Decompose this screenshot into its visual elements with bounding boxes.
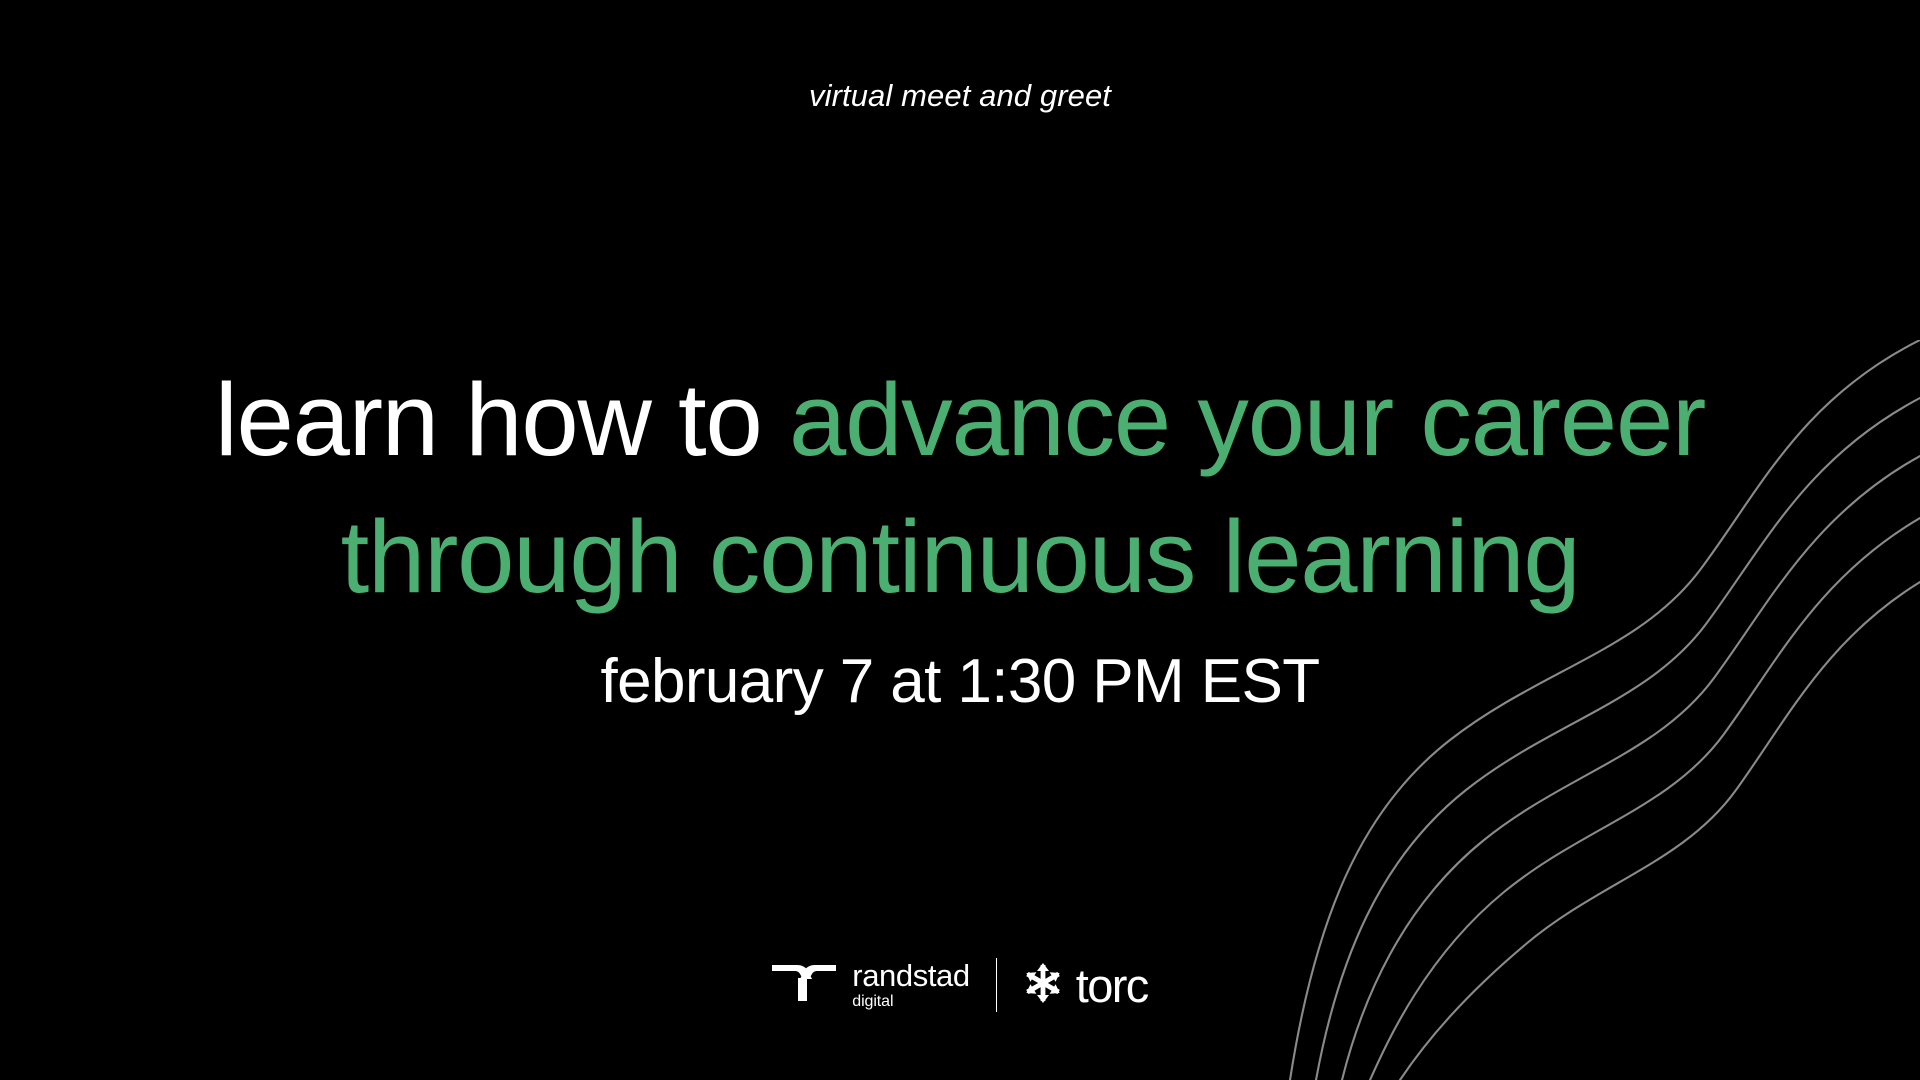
eyebrow-row: virtual meet and greet — [0, 78, 1920, 114]
randstad-digital-logo: randstad digital — [772, 960, 969, 1011]
event-datetime: february 7 at 1:30 PM EST — [90, 648, 1830, 716]
headline-line-2-accent: through continuous learning — [341, 499, 1580, 614]
headline-line-1-accent: advance your career — [789, 362, 1705, 477]
headline-line-2: through continuous learning — [90, 489, 1830, 626]
headline-line-1-white: learn how to — [215, 362, 789, 477]
randstad-wordmark: randstad digital — [852, 960, 969, 1010]
torc-asterisk-icon — [1023, 963, 1063, 1008]
logo-lockup: randstad digital — [0, 958, 1920, 1012]
torc-logo: torc — [1023, 962, 1148, 1009]
eyebrow-text: virtual meet and greet — [809, 78, 1111, 114]
randstad-name: randstad — [852, 960, 969, 991]
headline-line-1: learn how to advance your career — [90, 352, 1830, 489]
torc-wordmark: torc — [1076, 962, 1148, 1009]
vertical-divider-icon — [996, 958, 997, 1012]
randstad-subname: digital — [852, 994, 893, 1010]
randstad-shoulder-icon — [772, 960, 836, 1011]
headline-block: learn how to advance your career through… — [0, 352, 1920, 716]
presentation-slide: virtual meet and greet learn how to adva… — [0, 0, 1920, 1080]
